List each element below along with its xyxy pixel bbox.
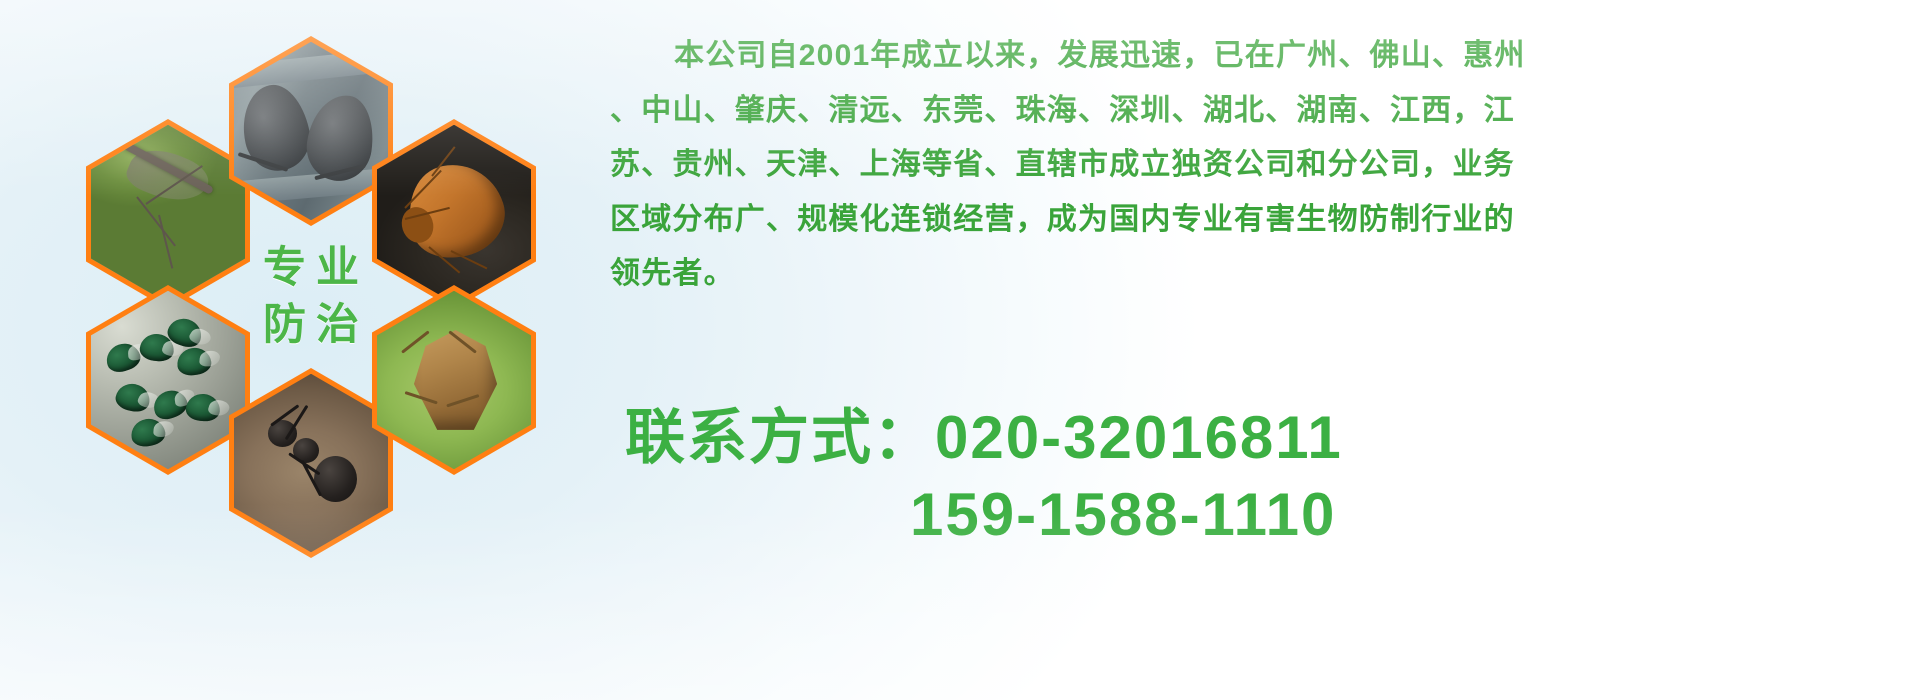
hex-inner-stink-bug xyxy=(377,291,531,469)
stink-bug-body xyxy=(414,330,497,430)
hex-inner-ant xyxy=(234,374,388,552)
hex-inner-cockroach xyxy=(377,125,531,303)
fly xyxy=(149,385,190,422)
rat xyxy=(235,79,316,176)
hex-inner-rats xyxy=(234,42,388,220)
intro-line: 苏、贵州、天津、上海等省、直辖市成立独资公司和分公司，业务 xyxy=(610,143,1900,187)
hex-inner-mosquito xyxy=(91,125,245,303)
rats-photo xyxy=(234,42,388,220)
honeycomb-collage: 专业 防治 xyxy=(86,12,586,572)
hex-cell-flies xyxy=(86,285,250,475)
hex-cell-mosquito xyxy=(86,119,250,309)
hex-inner-flies xyxy=(91,291,245,469)
contact-phone-landline[interactable]: 联系方式：020-32016811 xyxy=(625,400,1920,477)
hex-cell-cockroach xyxy=(372,119,536,309)
mosquito-leg xyxy=(136,197,175,247)
hex-cell-stink-bug xyxy=(372,285,536,475)
cockroach-photo xyxy=(377,125,531,303)
hex-cell-rats xyxy=(229,36,393,226)
ant-photo xyxy=(234,374,388,552)
fly xyxy=(113,380,152,413)
contact-phone-mobile[interactable]: 159-1588-1110 xyxy=(625,477,1920,554)
intro-line: 、中山、肇庆、清远、东莞、珠海、深圳、湖北、湖南、江西，江 xyxy=(610,89,1900,133)
intro-line: 区域分布广、规模化连锁经营，成为国内专业有害生物防制行业的 xyxy=(610,198,1900,242)
hex-cell-ant xyxy=(229,368,393,558)
logo-text-line-1: 专业 xyxy=(253,247,369,290)
logo-center-label: 专业 防治 xyxy=(229,202,393,392)
fly xyxy=(186,393,222,422)
contact-block: 联系方式：020-32016811 159-1588-1110 xyxy=(625,400,1920,554)
plank xyxy=(234,46,388,90)
mosquito-photo xyxy=(91,125,245,303)
logo-text-line-2: 防治 xyxy=(253,304,369,347)
stink-bug-photo xyxy=(377,291,531,469)
plank xyxy=(234,165,388,206)
company-intro-banner: 专业 防治 本公司自2001年成立以来，发展迅速，已在广州、佛山、惠州 、中山、… xyxy=(0,0,1920,700)
intro-line: 本公司自2001年成立以来，发展迅速，已在广州、佛山、惠州 xyxy=(610,34,1900,78)
fly xyxy=(129,416,167,448)
company-intro-text: 本公司自2001年成立以来，发展迅速，已在广州、佛山、惠州 、中山、肇庆、清远、… xyxy=(610,34,1900,307)
fly xyxy=(103,340,143,376)
intro-line: 领先者。 xyxy=(610,252,1900,296)
flies-photo xyxy=(91,291,245,469)
